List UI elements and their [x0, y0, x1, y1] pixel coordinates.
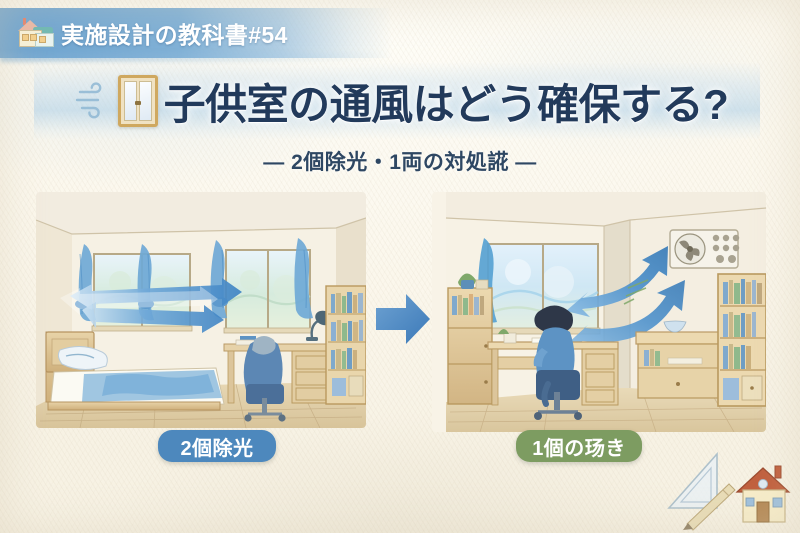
page-title: 子供室の通風はどう確保する?: [164, 71, 729, 132]
page-subtitle: — 2個除光・1両の対処誮 —: [0, 146, 800, 176]
series-banner-label: 実施設計の教科書#54: [61, 16, 288, 50]
right-illustration-panel: [432, 192, 766, 432]
house-icon: [14, 18, 54, 48]
bedroom-two-windows-illustration: [36, 192, 366, 428]
left-caption-label: 2個除光: [180, 432, 253, 461]
right-caption-badge: 1個の玚き: [516, 430, 642, 462]
infographic-canvas: 実施設計の教科書#54 子供室の通風はどう確保する? — 2個除光・1両の対処誮…: [0, 0, 800, 533]
drafting-doodle: [665, 452, 800, 533]
right-caption-label: 1個の玚き: [532, 432, 626, 461]
left-caption-badge: 2個除光: [158, 430, 276, 462]
wind-swirl-icon: [72, 79, 112, 123]
study-room-one-window-illustration: [432, 192, 766, 432]
double-door-icon: [118, 75, 158, 127]
transition-arrow-icon: [374, 288, 432, 350]
house-icon: [737, 466, 789, 522]
title-row: 子供室の通風はどう確保する?: [0, 66, 800, 136]
left-illustration-panel: [36, 192, 366, 428]
triangle-ruler-icon: [669, 454, 717, 508]
series-banner: 実施設計の教科書#54: [0, 8, 392, 58]
